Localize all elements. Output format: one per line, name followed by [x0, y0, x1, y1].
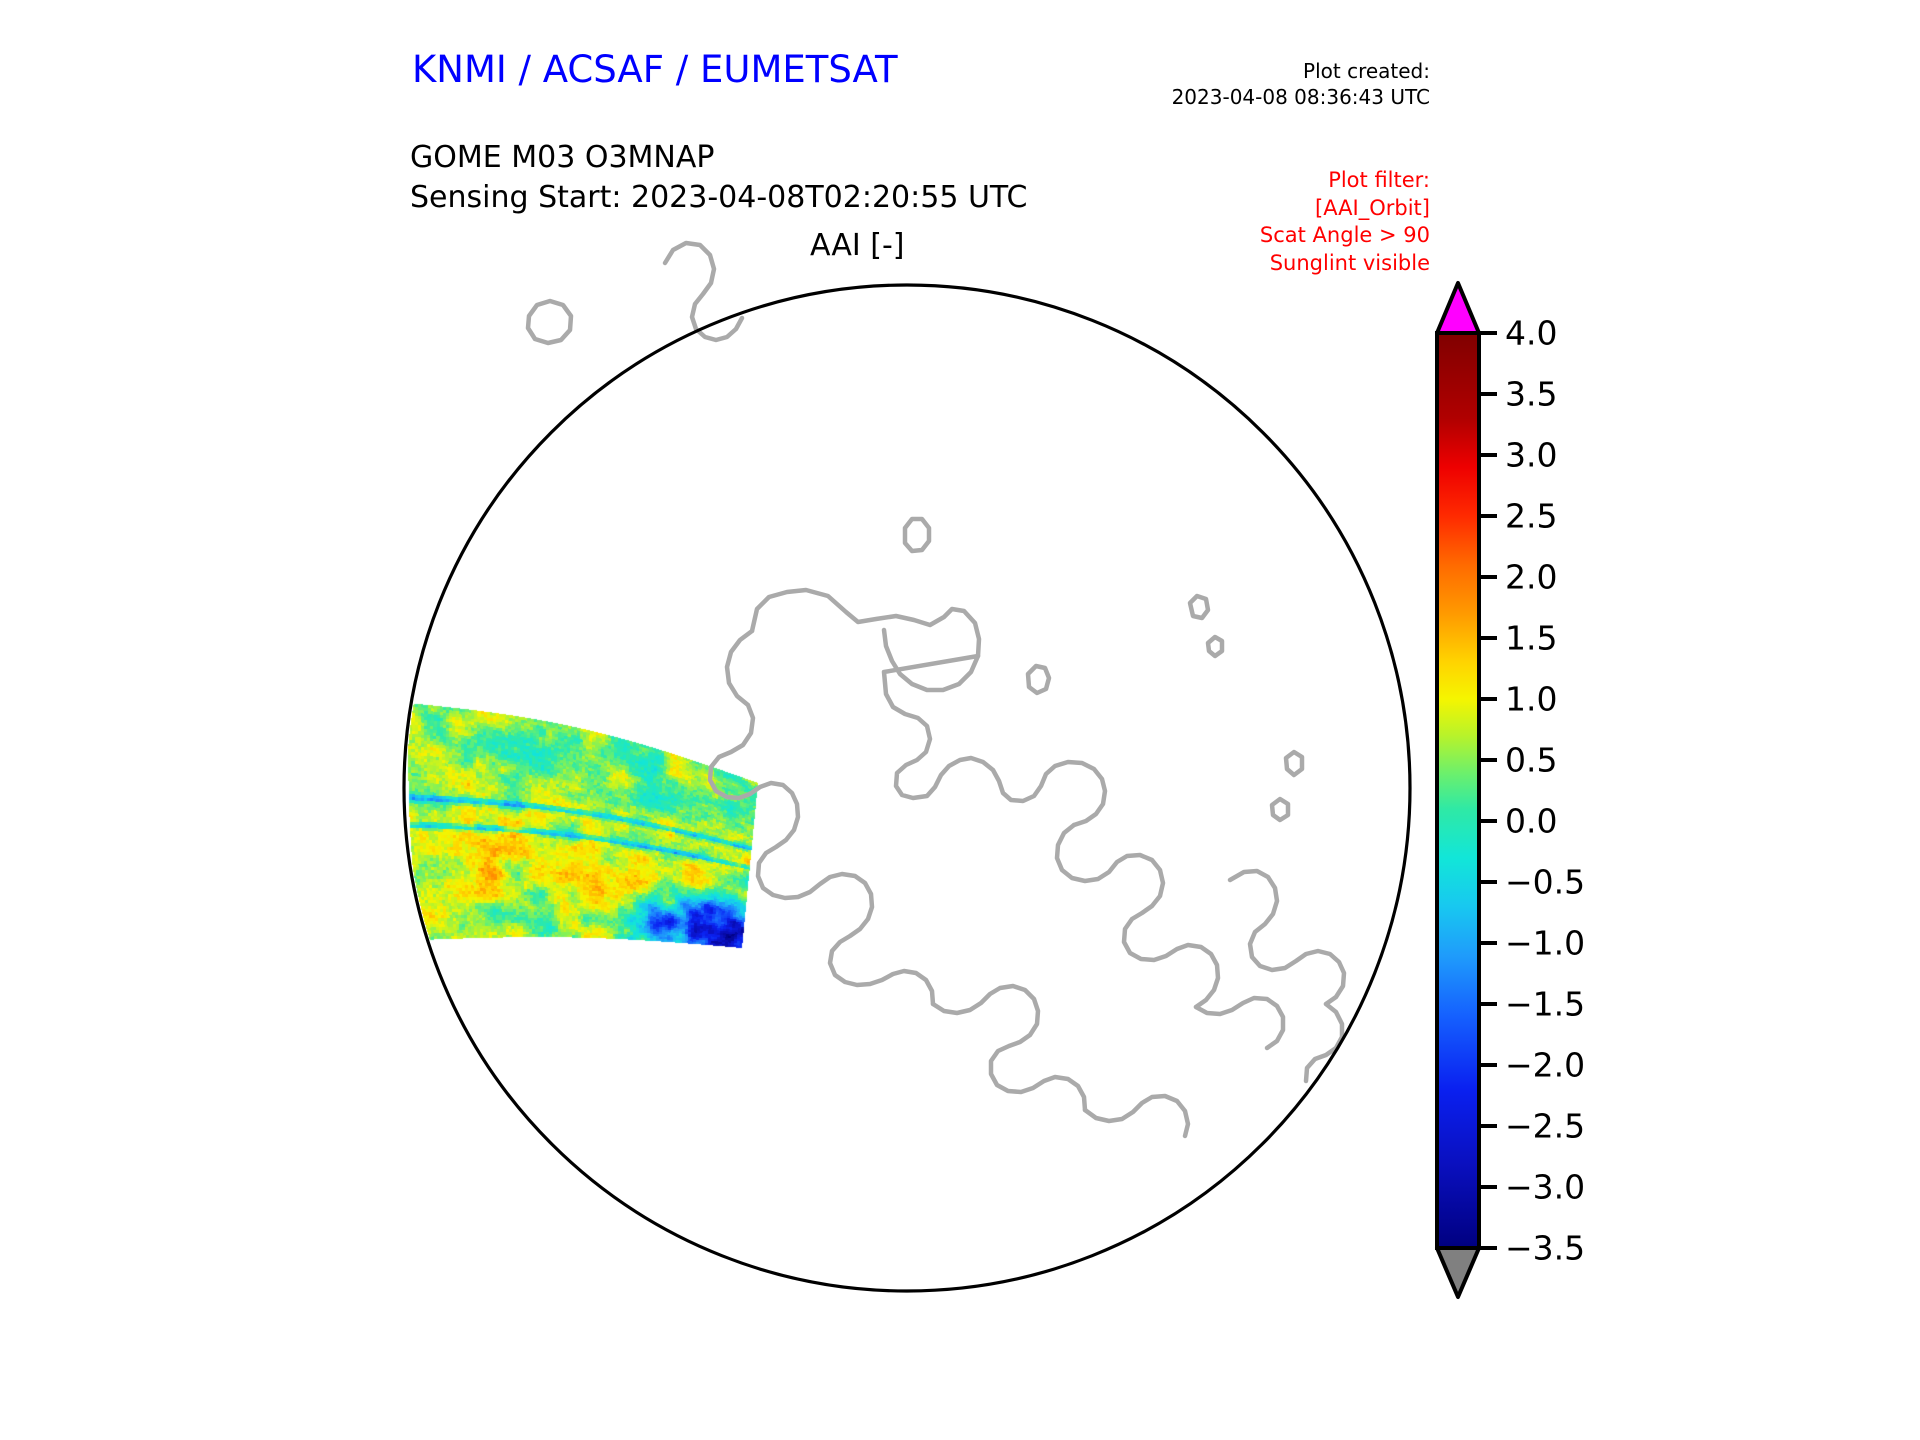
coastline-islands — [528, 243, 1302, 820]
colorbar-tick-label: −2.0 — [1505, 1046, 1585, 1085]
colorbar-tick-label: −3.5 — [1505, 1229, 1585, 1268]
colorbar-tick-label: −3.0 — [1505, 1168, 1585, 1207]
colorbar-over-arrow — [1437, 283, 1479, 333]
colorbar-tick-label: −1.5 — [1505, 985, 1585, 1024]
colorbar-tick-label: −1.0 — [1505, 924, 1585, 963]
figure-root: KNMI / ACSAF / EUMETSAT Plot created: 20… — [0, 0, 1920, 1440]
colorbar-tick-label: 4.0 — [1505, 314, 1557, 353]
colorbar-tick-label: 3.5 — [1505, 375, 1557, 414]
colorbar-tick-label: 2.0 — [1505, 558, 1557, 597]
colorbar-tick-labels: 4.03.53.02.52.01.51.00.50.0−0.5−1.0−1.5−… — [1505, 270, 1695, 1310]
colorbar: 4.03.53.02.52.01.51.00.50.0−0.5−1.0−1.5−… — [1430, 270, 1790, 1310]
colorbar-tick-label: 0.5 — [1505, 741, 1557, 780]
colorbar-tick-label: 1.0 — [1505, 680, 1557, 719]
colorbar-tick-label: −2.5 — [1505, 1107, 1585, 1146]
colorbar-tick-label: 3.0 — [1505, 436, 1557, 475]
colorbar-tick-label: 0.0 — [1505, 802, 1557, 841]
globe-outline — [404, 285, 1410, 1291]
colorbar-tick-label: 2.5 — [1505, 497, 1557, 536]
colorbar-gradient-bar — [1437, 333, 1479, 1248]
colorbar-tick-label: −0.5 — [1505, 863, 1585, 902]
colorbar-tick-label: 1.5 — [1505, 619, 1557, 658]
coastline-antarctica — [710, 590, 1218, 1136]
colorbar-under-arrow — [1437, 1248, 1479, 1297]
colorbar-ticks — [1479, 333, 1497, 1248]
